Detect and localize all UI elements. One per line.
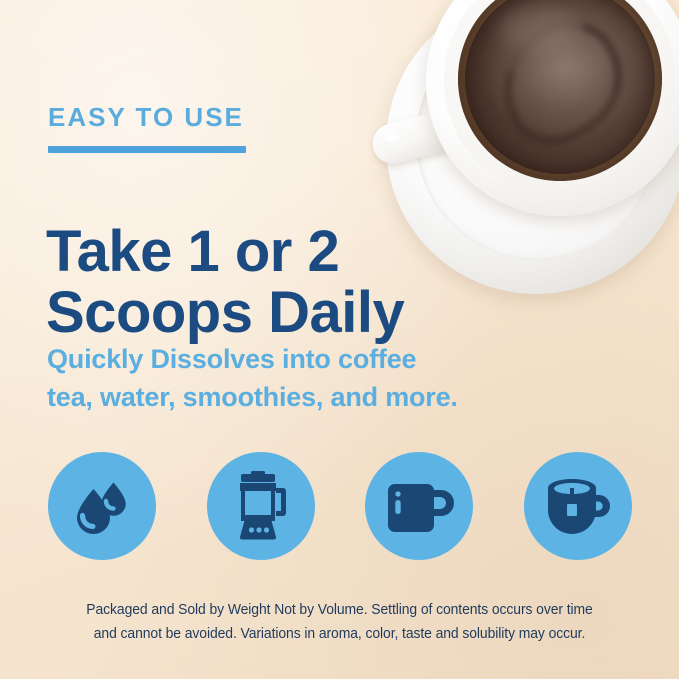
water-drops-icon [48,452,156,560]
usage-icon-row [48,450,632,562]
teacup-icon [524,452,632,560]
coffee-edge-ring [458,0,662,181]
product-infographic: EASY TO USE Take 1 or 2 Scoops Daily Qui… [0,0,679,679]
page-title: Take 1 or 2 Scoops Daily [46,221,404,344]
subheading-line-2: tea, water, smoothies, and more. [47,378,458,416]
headline-line-1: Take 1 or 2 [46,221,404,282]
blender-icon [207,452,315,560]
disclaimer-text: Packaged and Sold by Weight Not by Volum… [24,598,655,647]
coffee-cup-photo [378,0,679,332]
headline-line-2: Scoops Daily [46,282,404,343]
coffee-liquid [458,0,662,181]
subheading-line-1: Quickly Dissolves into coffee [47,340,458,378]
coffee-mug-icon [365,452,473,560]
subheading: Quickly Dissolves into coffee tea, water… [47,340,458,417]
eyebrow-underline [48,146,246,153]
disclaimer-line-1: Packaged and Sold by Weight Not by Volum… [24,598,655,622]
eyebrow-label: EASY TO USE [48,104,244,130]
cup-rim [444,0,676,196]
disclaimer-line-2: and cannot be avoided. Variations in aro… [24,622,655,646]
